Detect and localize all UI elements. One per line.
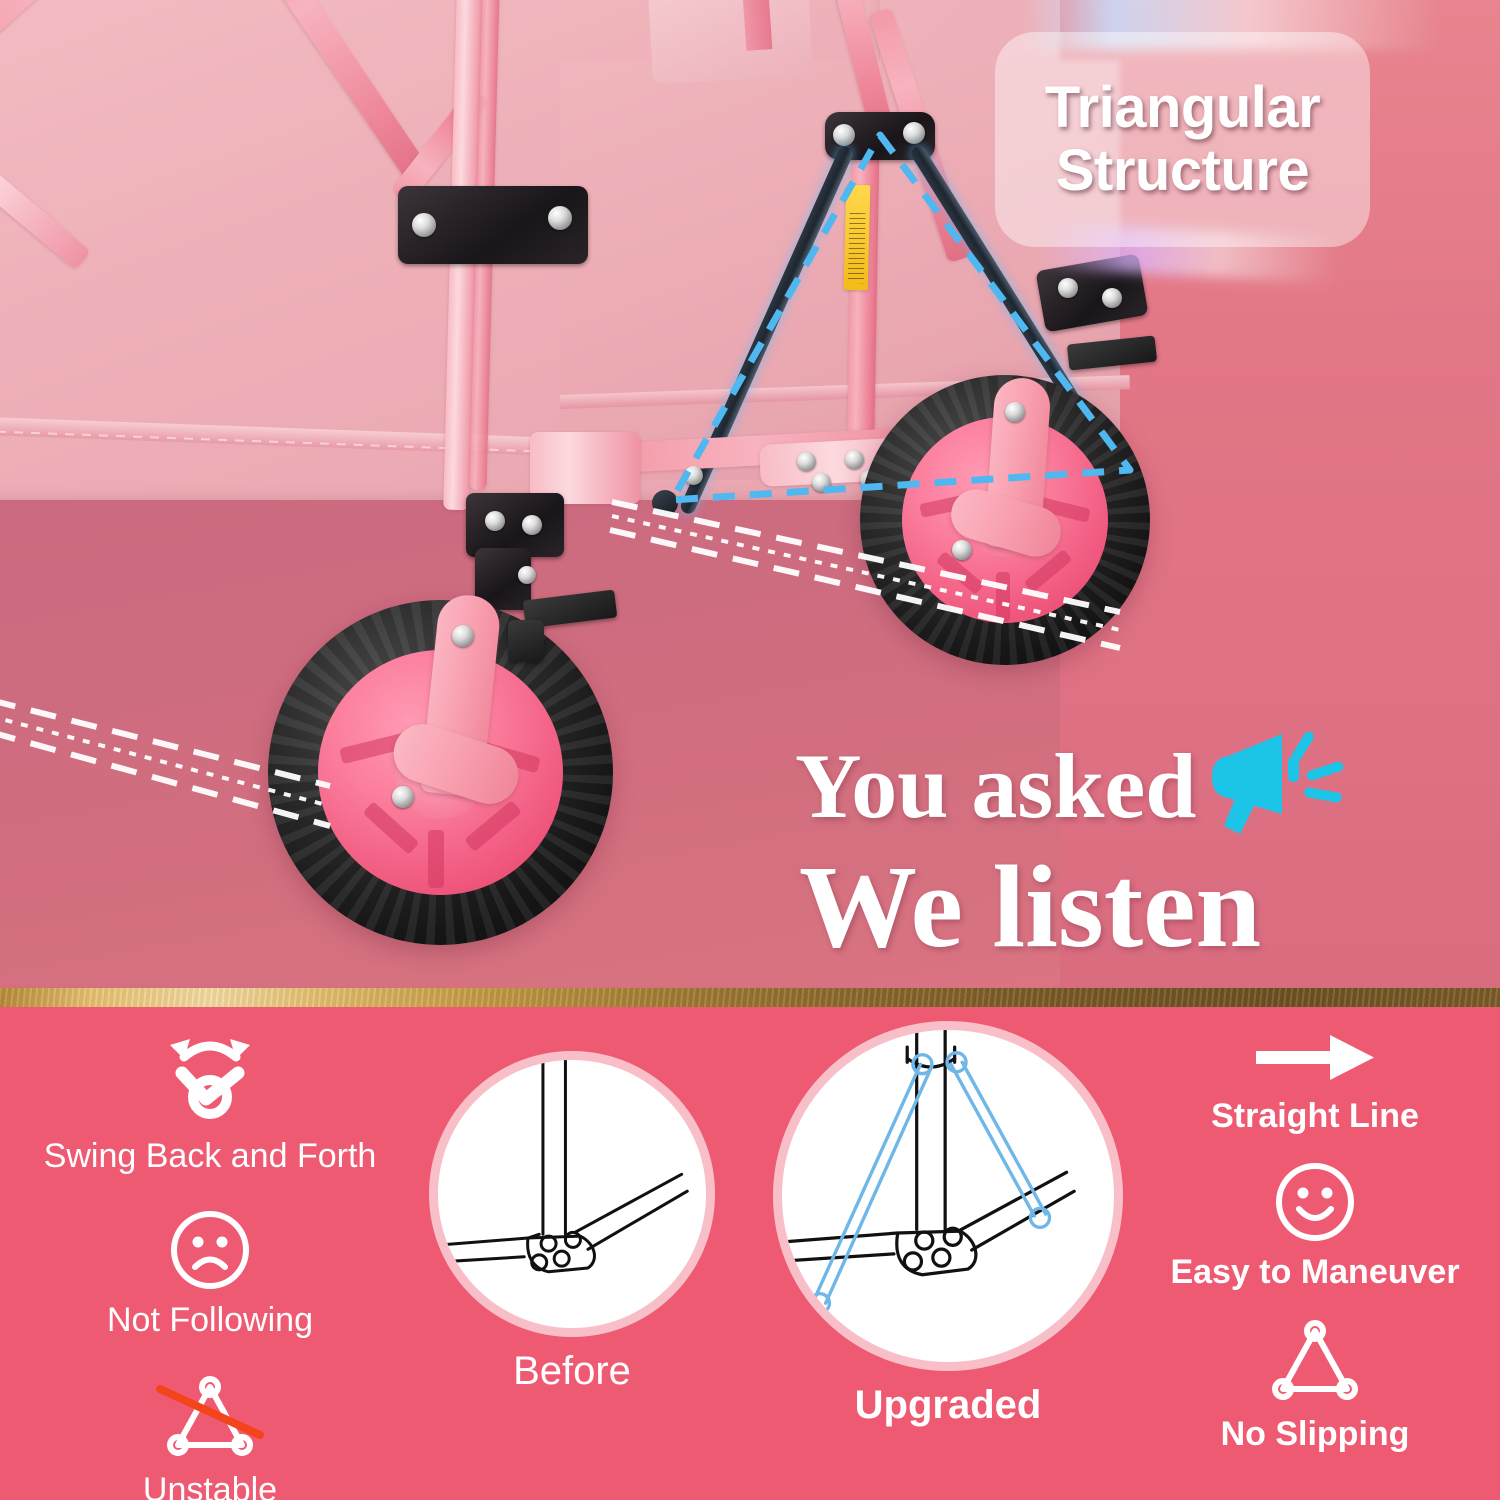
support-rod-left-end [652,490,678,516]
upgraded-circle [773,1021,1123,1371]
lower-plate-rivet-2 [845,450,864,469]
plain-frame-joint-diagram [438,1051,706,1337]
feature-unstable: Unstable [143,1371,277,1500]
front-wheel-spoke-6 [428,830,444,888]
feature-label: Swing Back and Forth [44,1139,377,1173]
wagon-side-pouch [647,0,813,84]
feature-label: Easy to Maneuver [1170,1255,1459,1289]
slogan-row-1: You asked [795,726,1495,846]
swivel-caster-arrows-icon [150,1029,270,1129]
feature-easy-to-maneuver: Easy to Maneuver [1170,1159,1459,1289]
upgraded-comparison: Upgraded [758,1021,1138,1428]
front-brake-lever [508,620,544,662]
triangular-brace-frame-diagram [782,1021,1114,1371]
rear-fork-screw-bottom [952,540,972,560]
feature-label: Unstable [143,1473,277,1500]
smiley-face-icon [1272,1159,1358,1245]
rear-swivel-screw-1 [1058,278,1078,298]
before-comparison: Before [412,1051,732,1394]
comparison-panel: Swing Back and Forth Not Following [0,1007,1500,1500]
badge-line-1: Triangular [1045,77,1320,140]
upgraded-label: Upgraded [855,1383,1042,1428]
lower-plate-rivet-4 [812,473,831,492]
front-swivel-screw-2 [522,515,542,535]
warning-label [844,185,871,291]
front-swivel-post-screw [518,566,536,584]
before-label: Before [513,1349,631,1394]
feature-label: No Slipping [1221,1417,1410,1451]
triangle-struck-through-icon [150,1371,270,1463]
rear-fork-screw-top [1005,402,1025,422]
joint-screw-left [412,213,436,237]
feature-label: Straight Line [1211,1099,1419,1133]
rear-swivel-screw-2 [1102,288,1122,308]
before-circle [429,1051,715,1337]
right-arrow-icon [1250,1029,1380,1089]
rod-apex-screw-right [903,122,925,144]
front-fork-screw-top [452,625,474,647]
triangular-structure-badge: Triangular Structure [995,32,1370,247]
slogan-line-1: You asked [795,742,1196,830]
joint-screw-right [548,206,572,230]
badge-line-2: Structure [1056,140,1309,203]
front-fork-screw-bottom [392,786,414,808]
feature-no-slipping: No Slipping [1221,1315,1410,1451]
triangle-icon [1260,1315,1370,1407]
rear-wheel-spoke-6 [996,572,1010,622]
lower-plate-rivet-1 [797,452,816,471]
right-feature-column: Straight Line Easy to Maneuver [1130,1007,1500,1451]
feature-straight-line: Straight Line [1211,1029,1419,1133]
slogan-line-2: We listen [799,850,1495,963]
rod-apex-screw-left [833,124,855,146]
sad-face-icon [167,1207,253,1293]
megaphone-icon [1210,726,1360,836]
slogan-block: You asked We listen [795,726,1495,963]
feature-label: Not Following [107,1303,313,1337]
feature-not-following: Not Following [107,1207,313,1337]
left-feature-column: Swing Back and Forth Not Following [0,1007,420,1500]
marketing-graphic: Triangular Structure You asked We listen [0,0,1500,1500]
pouch-strap [742,0,773,51]
front-swivel-screw-1 [485,511,505,531]
feature-swing-back-and-forth: Swing Back and Forth [44,1029,377,1173]
gold-divider [0,988,1500,1007]
product-photo-panel: Triangular Structure You asked We listen [0,0,1500,988]
lower-plate-rivet-6 [684,466,703,485]
